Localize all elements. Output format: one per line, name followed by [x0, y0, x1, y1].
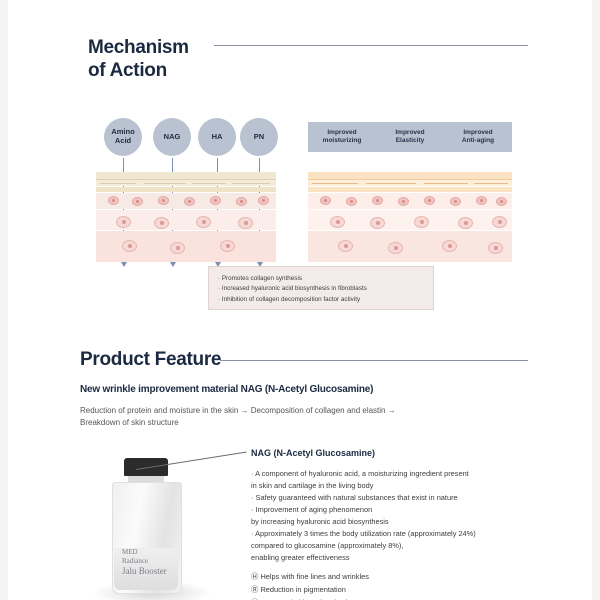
ingredient-circle-amino-acid: AminoAcid: [104, 118, 142, 156]
product-intro-line1: Reduction of protein and moisture in the…: [80, 405, 530, 417]
nag-bullet-list: · A component of hyaluronic acid, a mois…: [251, 468, 551, 564]
nag-benefit: Ⓘ Increased skin moisturization: [251, 596, 551, 600]
product-intro-line2: Breakdown of skin structure: [80, 417, 530, 429]
skin-diagram-left: [96, 172, 276, 262]
benefit-label: ImprovedElasticity: [395, 129, 424, 145]
mechanism-heading: Mechanism of Action: [88, 36, 189, 82]
product-intro: Reduction of protein and moisture in the…: [80, 405, 530, 430]
vial-label-line2: Radiance: [122, 557, 148, 565]
skin-diagram-right: [308, 172, 512, 262]
ingredient-label: HA: [212, 133, 223, 142]
callout-line-3: · Inhibition of collagen decomposition f…: [218, 295, 424, 305]
mechanism-title-line1: Mechanism: [88, 37, 189, 58]
ingredient-label: AminoAcid: [111, 128, 134, 145]
nag-bullet: enabling greater effectiveness: [251, 552, 551, 564]
product-subtitle: New wrinkle improvement material NAG (N-…: [80, 384, 373, 395]
product-feature-heading: Product Feature: [80, 348, 221, 371]
mechanism-heading-rule: [214, 45, 528, 46]
callout-line-1: · Promotes collagen synthesis: [218, 274, 424, 284]
nag-benefit-list: Ⓗ Helps with fine lines and wrinkles Ⓡ R…: [251, 570, 551, 600]
benefit-box-anti-aging: ImprovedAnti-aging: [444, 122, 512, 152]
product-feature-rule: [220, 360, 528, 361]
ingredient-circle-nag: NAG: [153, 118, 191, 156]
skin-layer-3: [308, 187, 512, 192]
skin-layer-3: [96, 187, 276, 192]
vial-label-line3: Jalu Booster: [122, 566, 167, 576]
mechanism-title: Mechanism of Action: [88, 36, 189, 82]
mechanism-title-line2: of Action: [88, 60, 167, 81]
skin-layer-epidermis: [308, 172, 512, 180]
ingredient-circle-pn: PN: [240, 118, 278, 156]
benefit-box-moisturizing: Improvedmoisturizing: [308, 122, 377, 152]
vial-brand-label: MED Radiance Jalu Booster: [122, 548, 167, 578]
ingredient-label: PN: [254, 133, 264, 142]
benefit-label: ImprovedAnti-aging: [462, 129, 494, 145]
nag-benefit: Ⓗ Helps with fine lines and wrinkles: [251, 570, 551, 583]
nag-bullet: · A component of hyaluronic acid, a mois…: [251, 468, 551, 480]
nag-bullet: in skin and cartilage in the living body: [251, 480, 551, 492]
document-page: Mechanism of Action AminoAcid NAG HA PN …: [8, 0, 592, 600]
nag-bullet: · Approximately 3 times the body utiliza…: [251, 528, 551, 540]
nag-title: NAG (N-Acetyl Glucosamine): [251, 448, 375, 458]
nag-bullet: compared to glucosamine (approximately 8…: [251, 540, 551, 552]
skin-layer-epidermis: [96, 172, 276, 180]
benefit-label: Improvedmoisturizing: [323, 129, 362, 145]
callout-line-2: · Increased hyaluronic acid biosynthesis…: [218, 284, 424, 294]
vial-label-line1: MED: [122, 548, 138, 556]
benefit-box-elasticity: ImprovedElasticity: [376, 122, 445, 152]
nag-bullet: · Safety guaranteed with natural substan…: [251, 492, 551, 504]
nag-bullet: by increasing hyaluronic acid biosynthes…: [251, 516, 551, 528]
ingredient-circle-ha: HA: [198, 118, 236, 156]
nag-bullet: · Improvement of aging phenomenon: [251, 504, 551, 516]
nag-benefit: Ⓡ Reduction in pigmentation: [251, 583, 551, 596]
product-feature-title: Product Feature: [80, 348, 221, 371]
mechanism-callout: · Promotes collagen synthesis · Increase…: [208, 266, 434, 310]
ingredient-label: NAG: [164, 133, 181, 142]
product-vial-image: MED Radiance Jalu Booster: [100, 452, 210, 600]
